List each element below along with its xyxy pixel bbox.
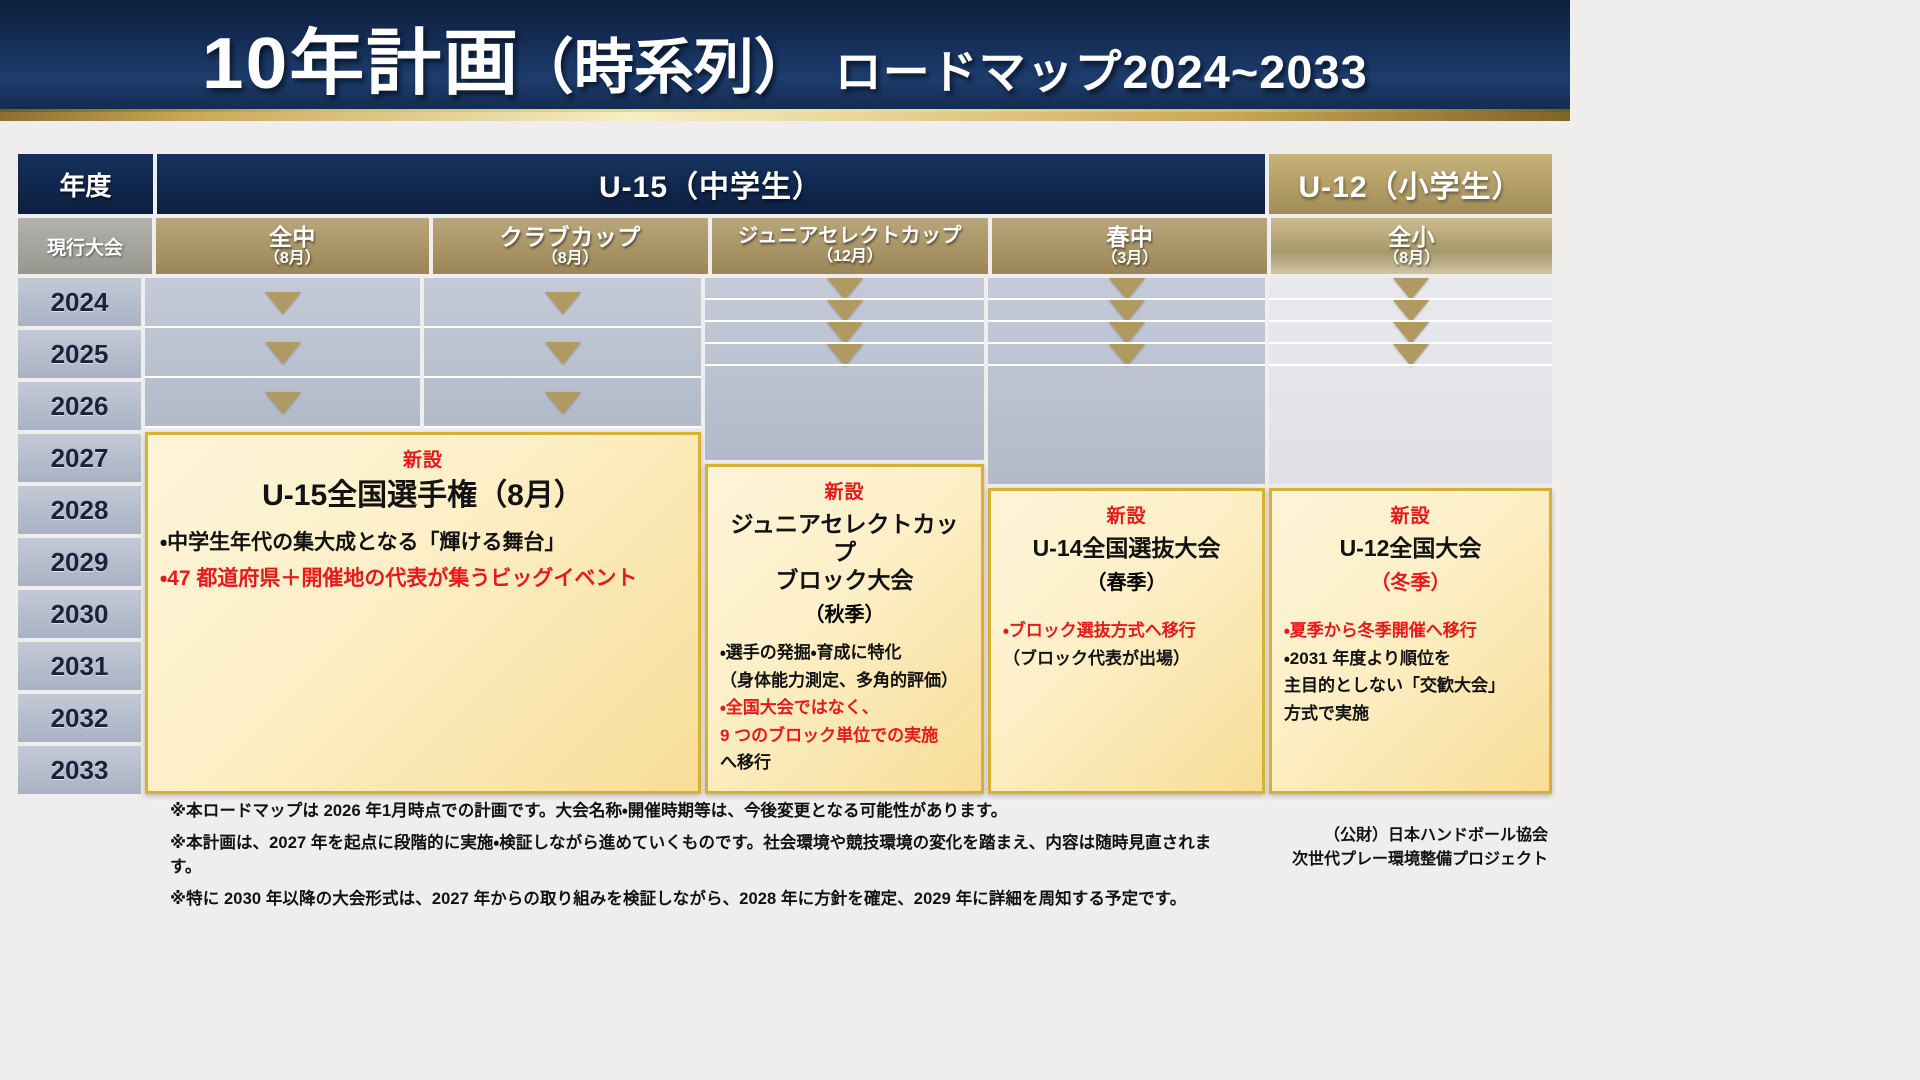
column-month: （12月）: [817, 249, 883, 266]
column-zensho: 新設 U-12全国大会 （冬季） ・夏季から冬季開催へ移行 ・2031 年度より…: [1269, 278, 1552, 794]
bullet-item: 主目的としない「交歓大会」: [1284, 672, 1537, 700]
column-zenchu-clubcup: 新設 U-15全国選手権（8月） ・中学生年代の集大成となる「輝ける舞台」 ・4…: [145, 278, 701, 794]
banner-title-paren: （時系列）: [514, 19, 814, 106]
current-competition-header: 現行大会: [18, 218, 152, 274]
down-arrow-icon: [545, 342, 581, 364]
arrow-cell: [145, 278, 420, 328]
pre-cells-juniorselect: [705, 278, 984, 460]
organization-credit: （公財）日本ハンドボール協会 次世代プレー環境整備プロジェクト: [1292, 824, 1548, 872]
down-arrow-icon: [1109, 322, 1145, 344]
bullet-item: 9 つのブロック単位での実施: [720, 722, 969, 750]
arrow-cell: [424, 328, 701, 378]
arrow-cell: [1269, 278, 1552, 300]
column-name: クラブカップ: [500, 225, 641, 249]
year-cell-2026: 2026: [18, 382, 141, 430]
arrow-cell: [988, 344, 1265, 366]
column-header-zensho: 全小 （8月）: [1271, 218, 1552, 274]
down-arrow-icon: [1393, 300, 1429, 322]
new-badge: 新設: [403, 445, 443, 472]
footnote-item: ※本ロードマップは 2026 年1月時点での計画です。大会名称・開催時期等は、今…: [170, 800, 1230, 823]
gold-divider: [0, 112, 1570, 121]
down-arrow-icon: [1109, 278, 1145, 300]
group-header-row: 年度 U-15（中学生） U-12（小学生）: [18, 154, 1552, 214]
down-arrow-icon: [1109, 344, 1145, 366]
banner-title-main: 10年計画: [202, 4, 520, 109]
down-arrow-icon: [1393, 322, 1429, 344]
bullet-item: ・中学生年代の集大成となる「輝ける舞台」: [160, 525, 686, 562]
new-plan-title: ジュニアセレクトカップ ブロック大会: [720, 510, 969, 594]
column-month: （8月）: [542, 251, 599, 268]
column-juniorselect: 新設 ジュニアセレクトカップ ブロック大会 （秋季） ・選手の発掘・育成に特化 …: [705, 278, 984, 794]
bullet-item: ・ブロック選抜方式へ移行: [1003, 617, 1250, 645]
year-cell-2030: 2030: [18, 590, 141, 638]
new-plan-subtitle: （冬季）: [1371, 566, 1451, 595]
arrow-cell: [424, 378, 701, 428]
new-plan-title: U-12全国大会: [1340, 534, 1482, 562]
arrow-cell: [145, 378, 420, 428]
new-plan-bullets: ・中学生年代の集大成となる「輝ける舞台」 ・47 都道府県＋開催地の代表が集うビ…: [160, 525, 686, 599]
bullet-item: ・全国大会ではなく、: [720, 694, 969, 722]
new-plan-box-u15[interactable]: 新設 U-15全国選手権（8月） ・中学生年代の集大成となる「輝ける舞台」 ・4…: [145, 432, 701, 794]
column-header-juniorselect: ジュニアセレクトカップ （12月）: [712, 218, 989, 274]
down-arrow-icon: [827, 322, 863, 344]
org-name: （公財）日本ハンドボール協会: [1292, 824, 1548, 848]
bullet-item: 方式で実施: [1284, 700, 1537, 728]
down-arrow-icon: [827, 344, 863, 366]
down-arrow-icon: [265, 292, 301, 314]
year-cell-2028: 2028: [18, 486, 141, 534]
arrow-cell: [705, 278, 984, 300]
column-month: （8月）: [264, 251, 321, 268]
footnote-item: ※特に 2030 年以降の大会形式は、2027 年からの取り組みを検証しながら、…: [170, 888, 1230, 911]
down-arrow-icon: [1393, 344, 1429, 366]
new-badge: 新設: [824, 477, 864, 504]
year-cell-2024: 2024: [18, 278, 141, 326]
year-cell-2031: 2031: [18, 642, 141, 690]
arrow-cell: [705, 344, 984, 366]
column-name: 春中: [1106, 225, 1153, 249]
group-header-u12: U-12（小学生）: [1269, 154, 1552, 214]
bullet-item: ・2031 年度より順位を: [1284, 645, 1537, 673]
new-plan-title: U-15全国選手権（8月）: [262, 478, 584, 515]
pre-cells-clubcup: [424, 278, 701, 428]
new-badge: 新設: [1106, 501, 1146, 528]
column-name: 全小: [1388, 225, 1435, 249]
competition-header-row: 現行大会 全中 （8月） クラブカップ （8月） ジュニアセレクトカップ （12…: [18, 218, 1552, 274]
new-plan-bullets: ・選手の発掘・育成に特化 （身体能力測定、多角的評価） ・全国大会ではなく、 9…: [720, 639, 969, 777]
arrow-cell: [705, 300, 984, 322]
down-arrow-icon: [827, 300, 863, 322]
year-column: 2024 2025 2026 2027 2028 2029 2030 2031 …: [18, 278, 141, 794]
new-plan-box-juniorselect[interactable]: 新設 ジュニアセレクトカップ ブロック大会 （秋季） ・選手の発掘・育成に特化 …: [705, 464, 984, 794]
down-arrow-icon: [1109, 300, 1145, 322]
arrow-cell: [988, 300, 1265, 322]
pre-cells-haruchu: [988, 278, 1265, 484]
bullet-item: （ブロック代表が出場）: [1003, 645, 1250, 673]
year-cell-2033: 2033: [18, 746, 141, 794]
bullet-item: へ移行: [720, 749, 969, 777]
column-haruchu: 新設 U-14全国選抜大会 （春季） ・ブロック選抜方式へ移行 （ブロック代表が…: [988, 278, 1265, 794]
arrow-cell: [988, 322, 1265, 344]
down-arrow-icon: [545, 292, 581, 314]
arrow-cell: [1269, 300, 1552, 322]
year-cell-2032: 2032: [18, 694, 141, 742]
arrow-cell: [705, 322, 984, 344]
column-header-haruchu: 春中 （3月）: [992, 218, 1267, 274]
new-plan-bullets: ・夏季から冬季開催へ移行 ・2031 年度より順位を 主目的としない「交歓大会」…: [1284, 617, 1537, 727]
bullet-item: ・47 都道府県＋開催地の代表が集うビッグイベント: [160, 561, 686, 598]
header-banner: 10年計画 （時系列） ロードマップ2024~2033: [0, 0, 1570, 112]
bullet-item: ・選手の発掘・育成に特化: [720, 639, 969, 667]
column-header-clubcup: クラブカップ （8月）: [433, 218, 708, 274]
year-cell-2027: 2027: [18, 434, 141, 482]
roadmap-table: 年度 U-15（中学生） U-12（小学生） 現行大会 全中 （8月） クラブカ…: [18, 154, 1552, 794]
arrow-cell: [988, 278, 1265, 300]
new-plan-bullets: ・ブロック選抜方式へ移行 （ブロック代表が出場）: [1003, 617, 1250, 672]
year-column-header: 年度: [18, 154, 153, 214]
pre-cells-zensho: [1269, 278, 1552, 484]
arrow-cell: [1269, 322, 1552, 344]
column-month: （3月）: [1101, 251, 1158, 268]
bullet-item: ・夏季から冬季開催へ移行: [1284, 617, 1537, 645]
table-body: 2024 2025 2026 2027 2028 2029 2030 2031 …: [18, 278, 1552, 794]
pre-cells-zenchu: [145, 278, 420, 428]
new-plan-subtitle: （春季）: [1087, 566, 1167, 595]
column-name: ジュニアセレクトカップ: [738, 226, 962, 247]
column-name: 全中: [269, 225, 316, 249]
competition-columns: 新設 U-15全国選手権（8月） ・中学生年代の集大成となる「輝ける舞台」 ・4…: [145, 278, 1552, 794]
org-project: 次世代プレー環境整備プロジェクト: [1292, 848, 1548, 872]
column-header-zenchu: 全中 （8月）: [156, 218, 429, 274]
group-header-u15: U-15（中学生）: [157, 154, 1265, 214]
down-arrow-icon: [827, 278, 863, 300]
down-arrow-icon: [1393, 278, 1429, 300]
down-arrow-icon: [545, 392, 581, 414]
banner-title-group: 10年計画 （時系列） ロードマップ2024~2033: [208, 4, 1363, 109]
arrow-cell: [424, 278, 701, 328]
bullet-item: （身体能力測定、多角的評価）: [720, 667, 969, 695]
new-plan-title: U-14全国選抜大会: [1033, 534, 1221, 562]
new-plan-box-u12[interactable]: 新設 U-12全国大会 （冬季） ・夏季から冬季開催へ移行 ・2031 年度より…: [1269, 488, 1552, 794]
year-cell-2025: 2025: [18, 330, 141, 378]
new-plan-box-u14[interactable]: 新設 U-14全国選抜大会 （春季） ・ブロック選抜方式へ移行 （ブロック代表が…: [988, 488, 1265, 794]
column-month: （8月）: [1383, 251, 1440, 268]
new-plan-subtitle: （秋季）: [805, 598, 885, 627]
new-badge: 新設: [1390, 501, 1430, 528]
arrow-cell: [1269, 344, 1552, 366]
footnote-item: ※本計画は、2027 年を起点に段階的に実施・検証しながら進めていくものです。社…: [170, 832, 1230, 879]
down-arrow-icon: [265, 342, 301, 364]
arrow-cell: [145, 328, 420, 378]
footnotes: ※本ロードマップは 2026 年1月時点での計画です。大会名称・開催時期等は、今…: [170, 800, 1230, 921]
down-arrow-icon: [265, 392, 301, 414]
banner-title-sub: ロードマップ2024~2033: [835, 36, 1368, 102]
year-cell-2029: 2029: [18, 538, 141, 586]
